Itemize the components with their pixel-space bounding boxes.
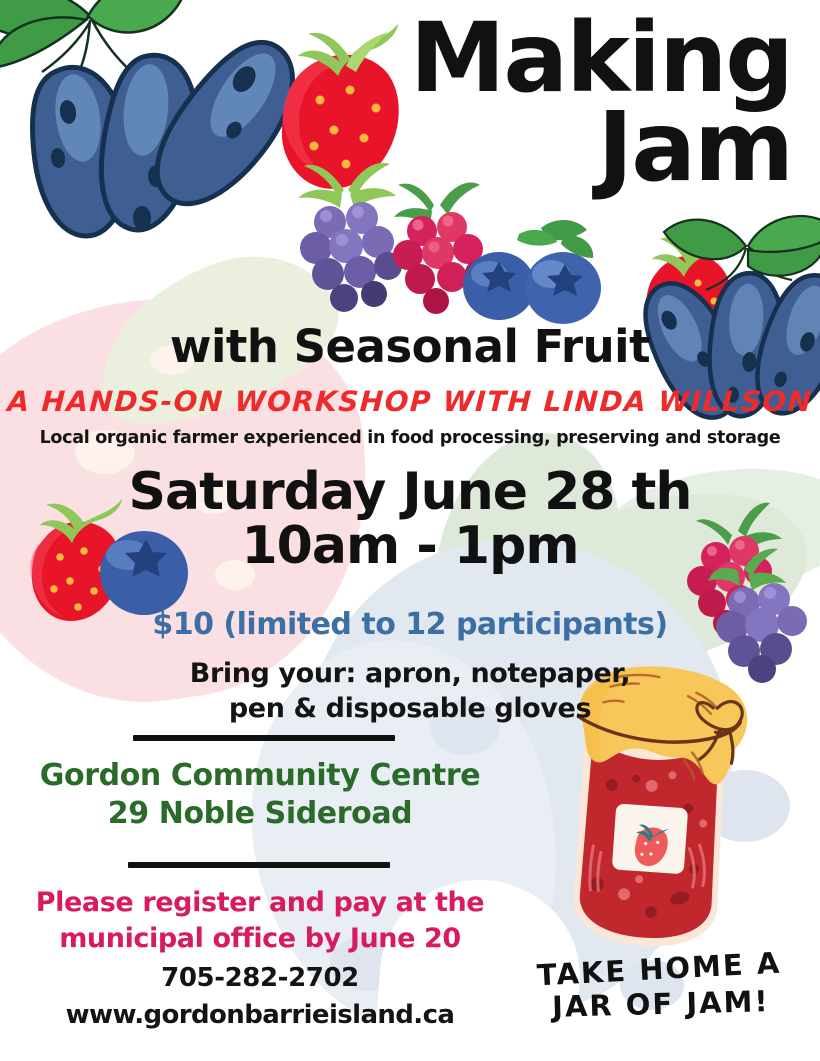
venue-address: Gordon Community Centre 29 Noble Sideroa… bbox=[0, 757, 520, 834]
event-datetime: Saturday June 28 th 10am - 1pm bbox=[0, 466, 820, 573]
venue-name: Gordon Community Centre bbox=[0, 757, 520, 795]
divider-top bbox=[133, 735, 395, 741]
bring-list: Bring your: apron, notepaper, pen & disp… bbox=[0, 656, 820, 726]
title-line-2: Jam bbox=[272, 103, 792, 192]
presenter-bio: Local organic farmer experienced in food… bbox=[0, 428, 820, 448]
price-and-capacity: $10 (limited to 12 participants) bbox=[0, 607, 820, 642]
poster-canvas: Making Jam with Seasonal Fruit A HANDS-O… bbox=[0, 0, 820, 1061]
take-home-line-2: JAR OF JAM! bbox=[501, 983, 820, 1027]
event-date: Saturday June 28 th bbox=[0, 466, 820, 520]
contact-phone[interactable]: 705-282-2702 bbox=[0, 963, 520, 993]
registration-line-1: Please register and pay at the bbox=[0, 885, 520, 921]
bring-list-line-2: pen & disposable gloves bbox=[0, 691, 820, 726]
bring-list-line-1: Bring your: apron, notepaper, bbox=[0, 656, 820, 691]
registration-notice: Please register and pay at the municipal… bbox=[0, 885, 520, 958]
divider-bottom bbox=[128, 862, 390, 868]
event-time: 10am - 1pm bbox=[0, 520, 820, 574]
title-line-1: Making bbox=[272, 14, 792, 103]
subtitle: with Seasonal Fruit bbox=[0, 320, 820, 373]
registration-line-2: municipal office by June 20 bbox=[0, 921, 520, 957]
page-title: Making Jam bbox=[272, 14, 792, 193]
contact-website[interactable]: www.gordonbarrieisland.ca bbox=[0, 1000, 520, 1030]
venue-street: 29 Noble Sideroad bbox=[0, 795, 520, 833]
haskap-berry-cluster-top-right bbox=[640, 212, 820, 412]
workshop-headline: A HANDS-ON WORKSHOP WITH LINDA WILLSON bbox=[0, 385, 820, 418]
